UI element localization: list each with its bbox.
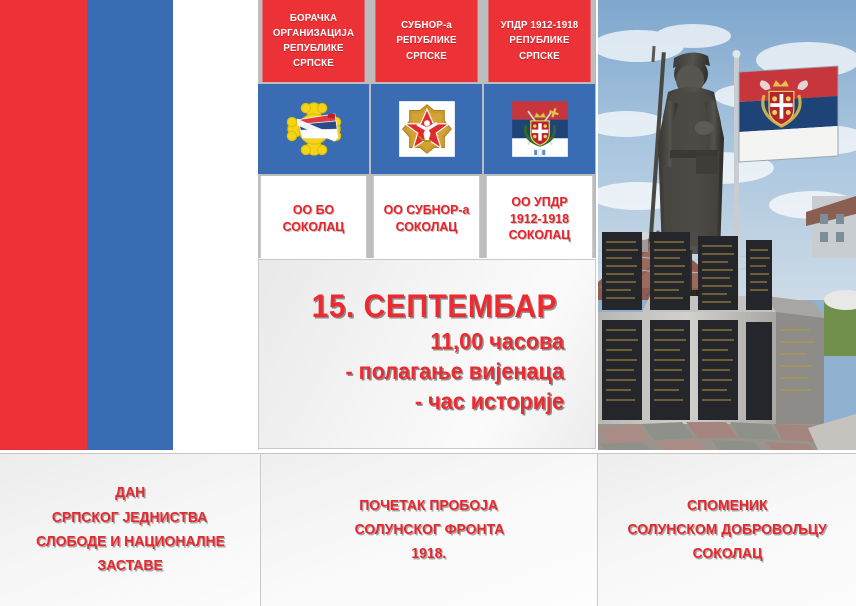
event-time: 11,00 часова xyxy=(288,327,581,357)
monument-photo-illustration xyxy=(598,0,856,450)
subnor-emblem-icon xyxy=(398,100,456,158)
event-activity-2: - час историје xyxy=(288,387,581,417)
caption-middle-line1: ПОЧЕТАК ПРОБОЈА xyxy=(360,494,499,518)
event-activity-1: - полагање вијенаца xyxy=(288,357,581,387)
caption-middle-line3: 1918. xyxy=(412,542,447,566)
caption-right-line2: СОЛУНСКОМ ДОБРОВОЉЦУ xyxy=(627,518,826,542)
event-date: 15. СЕПТЕМБАР xyxy=(288,289,581,325)
org-emblem-cell-3 xyxy=(484,84,595,174)
org-name-2-line1: ОО СУБНОР-а xyxy=(384,202,470,219)
org-header-3: УПДР 1912-1918 РЕПУБЛИКЕ СРПСКЕ xyxy=(488,0,590,82)
caption-middle: ПОЧЕТАК ПРОБОЈА СОЛУНСКОГ ФРОНТА 1918. xyxy=(261,454,598,606)
monument-photo xyxy=(598,0,856,450)
organizations-grid: БОРАЧКА ОРГАНИЗАЦИЈА РЕПУБЛИКЕ СРПСКЕ СУ… xyxy=(258,0,596,258)
caption-left-line2: СРПСКОГ ЈЕДНИСТВА xyxy=(52,506,207,530)
org-header-1-line2: РЕПУБЛИКЕ СРПСКЕ xyxy=(265,41,362,71)
caption-bar: ДАН СРПСКОГ ЈЕДНИСТВА СЛОБОДЕ И НАЦИОНАЛ… xyxy=(0,453,856,606)
org-header-3-line2: РЕПУБЛИКЕ СРПСКЕ xyxy=(491,33,588,63)
caption-right: СПОМЕНИК СОЛУНСКОМ ДОБРОВОЉЦУ СОКОЛАЦ xyxy=(598,454,856,606)
flag-stripe-blue xyxy=(87,0,173,450)
org-emblem-cell-2 xyxy=(371,84,482,174)
org-name-3-line2: 1912-1918 xyxy=(509,211,571,228)
org-name-2: ОО СУБНОР-а СОКОЛАЦ xyxy=(374,176,479,262)
flag-stripe-red xyxy=(0,0,87,450)
updr-emblem-icon xyxy=(511,100,569,158)
org-header-1: БОРАЧКА ОРГАНИЗАЦИЈА РЕПУБЛИКЕ СРПСКЕ xyxy=(262,0,364,82)
org-header-2: СУБНОР-а РЕПУБЛИКЕ СРПСКЕ xyxy=(375,0,477,82)
org-name-2-line2: СОКОЛАЦ xyxy=(384,219,470,236)
caption-left-line1: ДАН xyxy=(115,481,145,505)
org-name-3-line1: ОО УПДР xyxy=(509,194,571,211)
caption-right-line3: СОКОЛАЦ xyxy=(692,542,762,566)
org-header-2-line1: СУБНОР-а xyxy=(378,18,475,33)
flag-stripe-white xyxy=(173,0,259,450)
org-name-3: ОО УПДР 1912-1918 СОКОЛАЦ xyxy=(487,176,592,262)
org-name-1: ОО БО СОКОЛАЦ xyxy=(261,176,366,262)
poster-canvas: БОРАЧКА ОРГАНИЗАЦИЈА РЕПУБЛИКЕ СРПСКЕ СУ… xyxy=(0,0,856,606)
org-header-2-line2: РЕПУБЛИКЕ СРПСКЕ xyxy=(378,33,475,63)
org-emblem-cell-1 xyxy=(258,84,369,174)
caption-left: ДАН СРПСКОГ ЈЕДНИСТВА СЛОБОДЕ И НАЦИОНАЛ… xyxy=(0,454,261,606)
org-name-1-line2: СОКОЛАЦ xyxy=(283,219,345,236)
caption-right-line1: СПОМЕНИК xyxy=(687,494,768,518)
bo-rs-emblem-icon xyxy=(285,100,343,158)
caption-middle-line2: СОЛУНСКОГ ФРОНТА xyxy=(354,518,504,542)
org-header-3-line1: УПДР 1912-1918 xyxy=(491,18,588,33)
caption-left-line4: ЗАСТАВЕ xyxy=(97,554,162,578)
caption-left-line3: СЛОБОДЕ И НАЦИОНАЛНЕ xyxy=(36,530,225,554)
org-name-3-line3: СОКОЛАЦ xyxy=(509,227,571,244)
org-name-1-line1: ОО БО xyxy=(283,202,345,219)
event-details-panel: 15. СЕПТЕМБАР 11,00 часова - полагање ви… xyxy=(258,259,596,449)
org-header-1-line1: БОРАЧКА ОРГАНИЗАЦИЈА xyxy=(265,11,362,41)
